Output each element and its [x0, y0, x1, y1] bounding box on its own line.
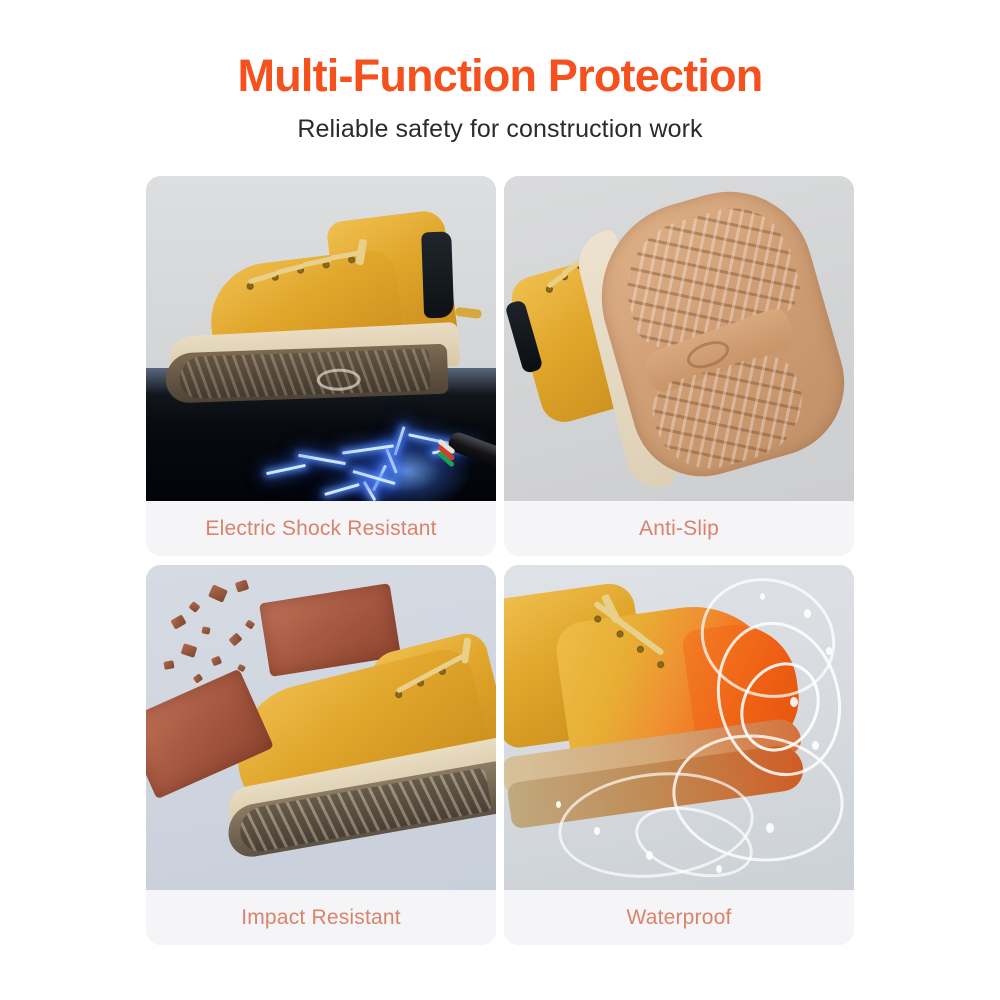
- feature-grid: Electric Shock Resistant: [146, 176, 854, 945]
- feature-caption-waterproof: Waterproof: [504, 890, 854, 945]
- feature-photo-electric-shock-resistant: [146, 176, 496, 501]
- feature-card-impact-resistant[interactable]: Impact Resistant: [146, 565, 496, 945]
- feature-card-waterproof[interactable]: Waterproof: [504, 565, 854, 945]
- feature-card-anti-slip[interactable]: Anti-Slip: [504, 176, 854, 556]
- feature-photo-impact-resistant: [146, 565, 496, 890]
- feature-caption-electric-shock-resistant: Electric Shock Resistant: [146, 501, 496, 556]
- feature-caption-anti-slip: Anti-Slip: [504, 501, 854, 556]
- feature-photo-anti-slip: [504, 176, 854, 501]
- page-header: Multi-Function Protection Reliable safet…: [0, 0, 1000, 144]
- page-subtitle: Reliable safety for construction work: [0, 115, 1000, 144]
- feature-caption-impact-resistant: Impact Resistant: [146, 890, 496, 945]
- feature-photo-waterproof: [504, 565, 854, 890]
- boot-illustration: [148, 199, 496, 453]
- product-feature-page: Multi-Function Protection Reliable safet…: [0, 0, 1000, 1000]
- feature-card-electric-shock-resistant[interactable]: Electric Shock Resistant: [146, 176, 496, 556]
- page-title: Multi-Function Protection: [0, 52, 1000, 99]
